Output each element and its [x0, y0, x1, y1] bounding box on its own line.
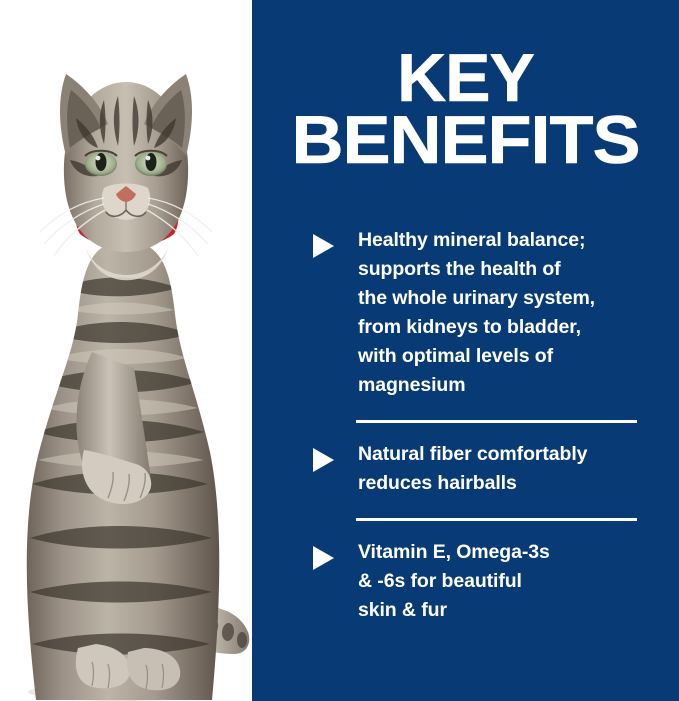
triangle-bullet-icon [313, 546, 334, 570]
benefits-list: Healthy mineral balance; supports the he… [313, 226, 659, 625]
triangle-bullet-icon [313, 234, 334, 258]
benefit-item-1: Healthy mineral balance; supports the he… [313, 226, 659, 400]
key-benefits-panel: KEY BENEFITS Healthy mineral balance; su… [252, 0, 679, 701]
benefit-text-3: Vitamin E, Omega-3s & -6s for beautiful … [358, 538, 659, 625]
benefit-text-1: Healthy mineral balance; supports the he… [358, 226, 659, 400]
triangle-bullet-icon [313, 448, 334, 472]
benefit-divider-1 [356, 420, 637, 423]
cat-photo-panel [0, 0, 252, 701]
benefit-text-2: Natural fiber comfortably reduces hairba… [358, 440, 659, 498]
key-benefits-heading: KEY BENEFITS [252, 47, 679, 171]
heading-line-1: KEY [252, 47, 679, 109]
tabby-cat-image [0, 52, 252, 701]
key-benefits-product-graphic: KEY BENEFITS Healthy mineral balance; su… [0, 0, 679, 701]
benefit-item-2: Natural fiber comfortably reduces hairba… [313, 440, 659, 498]
heading-line-2: BENEFITS [239, 109, 679, 171]
benefit-divider-2 [356, 518, 637, 521]
benefit-item-3: Vitamin E, Omega-3s & -6s for beautiful … [313, 538, 659, 625]
